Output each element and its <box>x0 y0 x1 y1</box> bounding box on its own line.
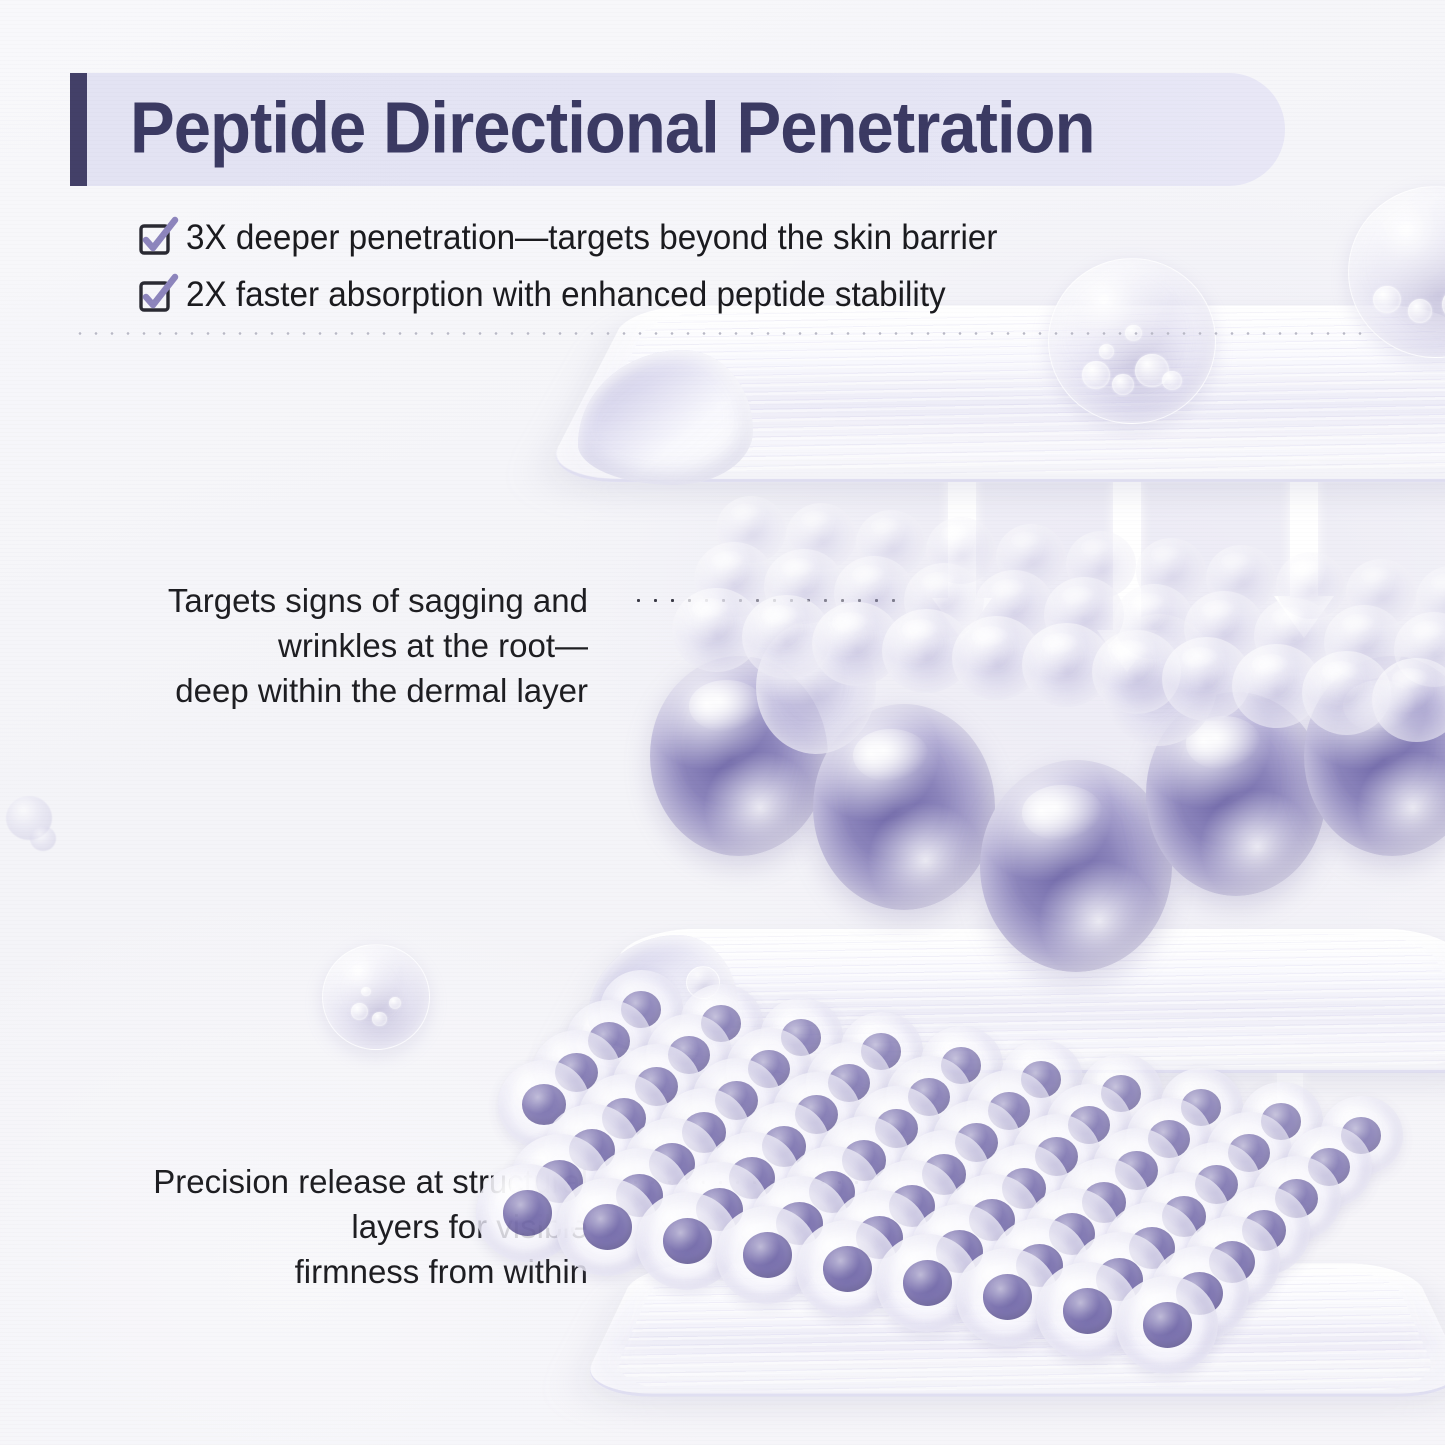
list-item: 3X deeper penetration—targets beyond the… <box>140 214 1040 261</box>
peptide-capsule <box>852 1086 941 1171</box>
micro-peptide-bead <box>1206 545 1276 612</box>
floating-bubble <box>686 966 720 999</box>
capsule-core <box>861 1033 901 1069</box>
peptide-capsule <box>624 1118 720 1210</box>
peptide-capsule <box>944 1174 1040 1266</box>
peptide-capsule <box>1286 1126 1372 1208</box>
capsule-core <box>908 1078 949 1116</box>
capsule-core <box>1068 1106 1109 1144</box>
micro-peptide-bead <box>1372 658 1445 742</box>
capsule-core <box>1035 1137 1078 1176</box>
capsule-core <box>649 1143 695 1185</box>
peptide-sphere-layer <box>560 610 1445 970</box>
checkbox-checked-icon <box>140 280 170 310</box>
micro-peptide-bead <box>882 609 971 693</box>
peptide-capsule <box>1150 1246 1249 1341</box>
capsule-core <box>555 1053 598 1092</box>
peptide-capsule <box>1080 1054 1163 1133</box>
capsule-core <box>781 1019 821 1055</box>
peptide-capsule <box>806 1042 892 1124</box>
micro-peptide-bead <box>1114 584 1194 659</box>
capsule-core <box>1021 1061 1061 1097</box>
capsule-core <box>828 1064 869 1102</box>
callout-leader-line <box>610 1181 865 1184</box>
capsule-core <box>1228 1134 1269 1172</box>
capsule-core <box>941 1047 981 1083</box>
micro-peptide-bead <box>694 542 774 617</box>
capsule-core <box>903 1260 952 1305</box>
structural-cell-layer <box>590 960 1445 1380</box>
micro-peptide-bead <box>1346 559 1416 626</box>
capsule-core <box>1308 1148 1349 1186</box>
gel-drip-lip <box>588 935 738 1055</box>
layered-peptide-penetration-graphic <box>560 160 1445 1445</box>
peptide-capsule <box>566 1000 652 1082</box>
capsule-core <box>1049 1213 1095 1255</box>
capsule-core <box>1148 1120 1189 1158</box>
capsule-core <box>762 1126 806 1167</box>
capsule-core <box>1341 1117 1381 1153</box>
micro-peptide-bead <box>1324 605 1404 680</box>
capsule-core <box>969 1199 1015 1241</box>
floating-bubble <box>1048 258 1216 424</box>
capsule-core <box>1143 1302 1192 1347</box>
peptide-capsule <box>760 998 843 1077</box>
peptide-capsule <box>990 1218 1089 1313</box>
micro-peptide-bead <box>1302 651 1391 735</box>
capsule-core <box>1129 1227 1175 1269</box>
peptide-capsule <box>658 1088 750 1177</box>
peptide-capsule <box>932 1100 1021 1185</box>
micro-peptide-bead <box>1276 552 1346 619</box>
capsule-core <box>1063 1288 1112 1333</box>
capsule-core <box>889 1185 935 1227</box>
peptide-capsule <box>1024 1188 1120 1280</box>
floating-bubble <box>664 1196 704 1234</box>
capsule-core <box>1195 1165 1238 1204</box>
floating-bubble <box>322 944 430 1050</box>
dotted-separator <box>72 332 1367 335</box>
infographic-canvas: Peptide Directional Penetration 3X deepe… <box>0 0 1445 1445</box>
capsule-core <box>875 1109 918 1148</box>
capsule-core <box>635 1067 678 1106</box>
benefit-list: 3X deeper penetration—targets beyond the… <box>140 214 1040 328</box>
capsule-core <box>823 1246 872 1291</box>
capsule-core <box>856 1216 904 1260</box>
peptide-capsule <box>1104 1202 1200 1294</box>
micro-peptide-bead <box>1416 566 1445 633</box>
micro-peptide-bead <box>1066 531 1136 598</box>
capsule-core <box>602 1098 646 1139</box>
capsule-core <box>729 1157 775 1199</box>
callout-leader-line <box>630 599 900 602</box>
penetration-arrow-down <box>1095 478 1159 678</box>
peptide-capsule <box>612 1044 701 1129</box>
peptide-capsule <box>956 1248 1058 1346</box>
peptide-capsule <box>1138 1172 1230 1261</box>
peptide-capsule <box>1126 1098 1212 1180</box>
list-item: 2X faster absorption with enhanced pepti… <box>140 271 1040 318</box>
capsule-core <box>809 1171 855 1213</box>
peptide-capsule <box>1092 1128 1181 1213</box>
peptide-capsule <box>1320 1096 1403 1175</box>
base-gel-sheet <box>610 1200 1440 1445</box>
peptide-capsule <box>1046 1084 1132 1166</box>
peptide-capsule <box>726 1028 812 1110</box>
capsule-core <box>682 1112 726 1153</box>
capsule-core <box>1261 1103 1301 1139</box>
gel-drip-lip <box>578 350 753 485</box>
micro-peptide-bead <box>1232 644 1321 728</box>
capsule-core <box>1181 1089 1221 1125</box>
penetration-arrow-down <box>930 460 994 645</box>
list-item-label: 2X faster absorption with enhanced pepti… <box>186 275 946 315</box>
capsule-core <box>955 1123 998 1162</box>
capsule-core <box>668 1036 709 1074</box>
peptide-capsule <box>1240 1082 1323 1161</box>
title-banner: Peptide Directional Penetration <box>70 73 1285 186</box>
peptide-capsule <box>772 1072 861 1157</box>
micro-peptide-bead <box>974 570 1054 645</box>
capsule-core <box>743 1232 792 1277</box>
capsule-core <box>1176 1272 1224 1316</box>
micro-peptide-bead <box>812 602 901 686</box>
micro-peptide-bead <box>786 503 856 570</box>
micro-peptide-bead <box>1184 591 1264 666</box>
peptide-capsule <box>738 1102 830 1191</box>
microbead-fringe <box>710 490 1445 660</box>
capsule-core <box>842 1140 886 1181</box>
micro-peptide-bead <box>996 524 1066 591</box>
capsule-core <box>795 1095 838 1134</box>
peptide-capsule <box>910 1204 1009 1299</box>
peptide-capsule <box>1012 1114 1101 1199</box>
micro-peptide-bead <box>904 563 984 638</box>
micro-peptide-bead <box>1022 623 1111 707</box>
capsule-core <box>1016 1244 1064 1288</box>
peptide-capsule <box>886 1056 972 1138</box>
micro-peptide-bead <box>716 496 786 563</box>
penetration-arrow-down <box>1272 460 1336 642</box>
capsule-core <box>1082 1182 1126 1223</box>
penetration-arrow-down <box>900 1045 960 1180</box>
capsule-core <box>748 1050 789 1088</box>
callout-dermal-layer: Targets signs of sagging and wrinkles at… <box>120 578 588 713</box>
capsule-core <box>621 991 661 1027</box>
micro-peptide-bead <box>742 595 831 679</box>
peptide-capsule <box>532 1030 621 1115</box>
peptide-capsule <box>750 1176 849 1271</box>
peptide-capsule <box>692 1058 781 1143</box>
penetration-arrow-down <box>1260 1045 1320 1185</box>
micro-peptide-bead <box>1394 612 1445 687</box>
peptide-capsule <box>898 1130 990 1219</box>
capsule-core <box>1275 1179 1318 1218</box>
peptide-capsule <box>646 1014 732 1096</box>
peptide-capsule <box>830 1190 929 1285</box>
title-accent-bar <box>70 73 87 186</box>
peptide-capsule <box>1058 1158 1150 1247</box>
micro-peptide-bead <box>1162 637 1251 721</box>
peptide-capsule <box>716 1206 818 1304</box>
peptide-capsule <box>578 1074 670 1163</box>
floating-droplet <box>30 826 56 851</box>
page-title: Peptide Directional Penetration <box>130 87 1095 169</box>
peptide-capsule <box>818 1116 910 1205</box>
capsule-core <box>1101 1075 1141 1111</box>
capsule-core <box>922 1154 966 1195</box>
micro-peptide-bead <box>1254 598 1334 673</box>
peptide-capsule <box>1000 1040 1083 1119</box>
peptide-capsule <box>1070 1232 1169 1327</box>
capsule-core <box>983 1274 1032 1319</box>
capsule-core <box>776 1202 824 1246</box>
capsule-core <box>1002 1168 1046 1209</box>
peptide-capsule <box>840 1012 923 1091</box>
capsule-core <box>588 1022 629 1060</box>
peptide-capsule <box>796 1220 898 1318</box>
peptide-capsule <box>1116 1276 1218 1374</box>
capsule-core <box>583 1204 632 1249</box>
capsule-core <box>522 1084 566 1125</box>
peptide-capsule <box>1160 1068 1243 1147</box>
capsule-core <box>936 1230 984 1274</box>
capsule-core <box>1242 1210 1286 1251</box>
peptide-capsule <box>920 1026 1003 1105</box>
peptide-capsule <box>1218 1186 1310 1275</box>
peptide-capsule <box>784 1146 880 1238</box>
capsule-core <box>701 1005 741 1041</box>
capsule-core <box>1209 1241 1255 1283</box>
micro-peptide-bead <box>926 517 996 584</box>
peptide-capsule <box>1252 1156 1341 1241</box>
peptide-capsule <box>600 970 683 1049</box>
dermal-gel-sheet <box>600 860 1445 1130</box>
peptide-capsule <box>1184 1216 1280 1308</box>
capsule-core <box>715 1081 758 1120</box>
capsule-core <box>1096 1258 1144 1302</box>
peptide-capsule <box>978 1144 1070 1233</box>
micro-peptide-bead <box>764 549 844 624</box>
peptide-capsule <box>966 1070 1052 1152</box>
micro-peptide-bead <box>834 556 914 631</box>
micro-peptide-bead <box>952 616 1041 700</box>
peptide-capsule <box>1036 1262 1138 1360</box>
micro-peptide-bead <box>1044 577 1124 652</box>
micro-peptide-bead <box>856 510 926 577</box>
checkbox-checked-icon <box>140 223 170 253</box>
penetration-arrow-down <box>1080 1060 1140 1210</box>
peptide-capsule <box>1172 1142 1261 1227</box>
peptide-capsule <box>1206 1112 1292 1194</box>
peptide-capsule <box>864 1160 960 1252</box>
callout-structural-layers: Precision release at structural layers f… <box>100 1159 588 1294</box>
micro-peptide-bead <box>1136 538 1206 605</box>
peptide-capsule <box>704 1132 800 1224</box>
list-item-label: 3X deeper penetration—targets beyond the… <box>186 218 997 258</box>
micro-peptide-bead <box>1092 630 1181 714</box>
peptide-capsule <box>498 1060 590 1149</box>
peptide-capsule <box>876 1234 978 1332</box>
capsule-core <box>988 1092 1029 1130</box>
capsule-core <box>1115 1151 1158 1190</box>
capsule-core <box>1162 1196 1206 1237</box>
